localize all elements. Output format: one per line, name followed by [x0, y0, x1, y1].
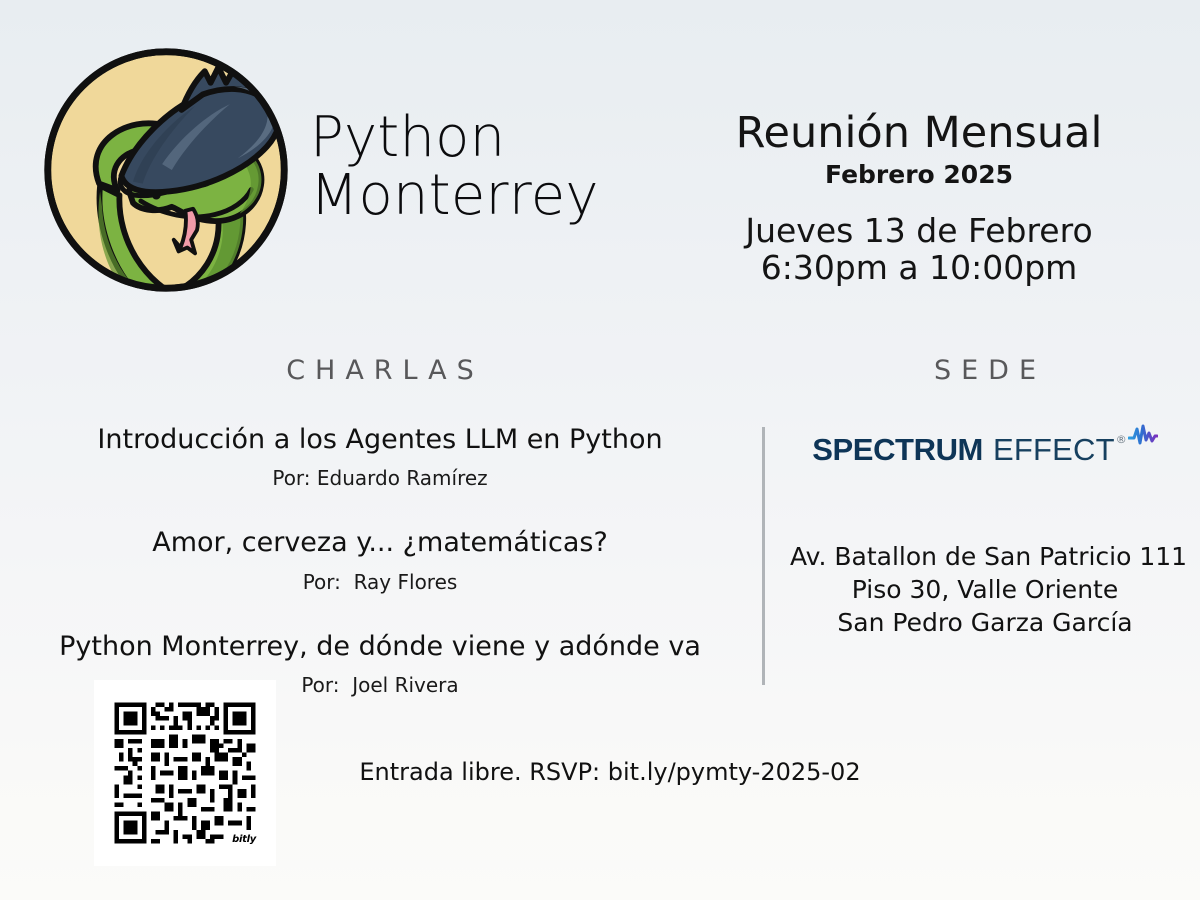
venue-address-line: Piso 30, Valle Oriente	[790, 573, 1180, 606]
talks-column: CHARLAS Introducción a los Agentes LLM e…	[20, 355, 740, 697]
event-poster: Python Monterrey Reunión Mensual Febrero…	[0, 0, 1200, 900]
waveform-spectrum-icon	[1128, 424, 1158, 448]
talks-section-heading: CHARLAS	[20, 355, 740, 386]
brand-lockup: Python Monterrey	[40, 40, 599, 300]
brand-line-monterrey: Monterrey	[310, 167, 599, 225]
registered-mark: ®	[1116, 433, 1127, 446]
venue-address: Av. Batallon de San Patricio 111 Piso 30…	[790, 540, 1180, 639]
event-month: Febrero 2025	[684, 160, 1154, 189]
sponsor-name-regular: EFFECT	[993, 432, 1115, 468]
rsvp-footer: Entrada libre. RSVP: bit.ly/pymty-2025-0…	[0, 758, 1200, 786]
bitly-logo-label: bitly	[230, 833, 258, 846]
rsvp-text: Entrada libre. RSVP: bit.ly/pymty-2025-0…	[359, 758, 860, 786]
column-divider	[762, 427, 765, 685]
sponsor-name-bold: SPECTRUM	[812, 432, 983, 468]
event-info: Reunión Mensual Febrero 2025 Jueves 13 d…	[684, 110, 1154, 287]
talk-title: Python Monterrey, de dónde viene y adónd…	[20, 631, 740, 663]
venue-section-heading: SEDE	[790, 355, 1180, 386]
event-date: Jueves 13 de Febrero	[684, 213, 1154, 250]
brand-line-python: Python	[310, 109, 599, 167]
talk-title: Introducción a los Agentes LLM en Python	[20, 424, 740, 456]
talks-list: Introducción a los Agentes LLM en Python…	[20, 424, 740, 697]
talk-title: Amor, cerveza y... ¿matemáticas?	[20, 527, 740, 559]
talk-speaker: Por: Eduardo Ramírez	[20, 466, 740, 490]
brand-wordmark: Python Monterrey	[310, 109, 599, 231]
sponsor-logo: SPECTRUM EFFECT ®	[790, 432, 1180, 468]
talk-item: Amor, cerveza y... ¿matemáticas? Por: Ra…	[20, 527, 740, 593]
talk-item: Introducción a los Agentes LLM en Python…	[20, 424, 740, 490]
venue-address-line: Av. Batallon de San Patricio 111	[790, 540, 1180, 573]
python-monterrey-snake-logo-icon	[40, 40, 292, 300]
venue-column: SEDE SPECTRUM EFFECT ®	[790, 355, 1180, 639]
event-title: Reunión Mensual	[684, 110, 1154, 156]
event-time: 6:30pm a 10:00pm	[684, 250, 1154, 287]
poster-header: Python Monterrey Reunión Mensual Febrero…	[0, 0, 1200, 330]
talk-speaker: Por: Ray Flores	[20, 570, 740, 594]
venue-address-line: San Pedro Garza García	[790, 606, 1180, 639]
